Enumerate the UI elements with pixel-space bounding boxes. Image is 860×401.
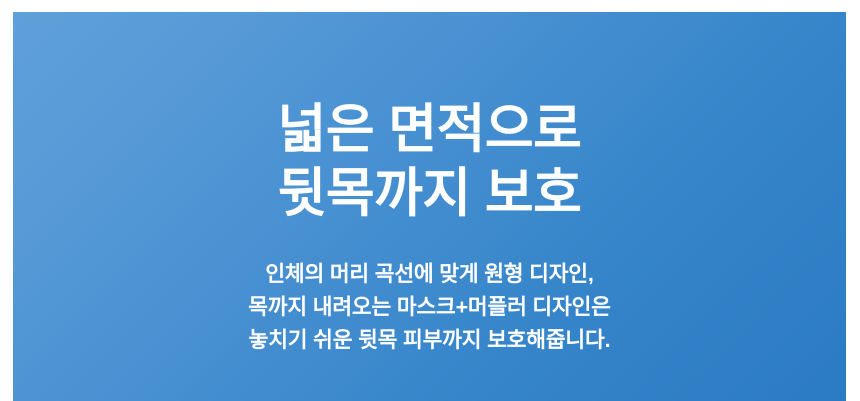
banner-content: 넓은 면적으로 뒷목까지 보호 인체의 머리 곡선에 맞게 원형 디자인, 목까… xyxy=(13,12,846,401)
headline-block: 넓은 면적으로 뒷목까지 보호 xyxy=(278,98,582,226)
banner-root: 넓은 면적으로 뒷목까지 보호 인체의 머리 곡선에 맞게 원형 디자인, 목까… xyxy=(0,0,860,401)
banner-gradient-panel: 넓은 면적으로 뒷목까지 보호 인체의 머리 곡선에 맞게 원형 디자인, 목까… xyxy=(13,12,846,401)
headline-line-1: 넓은 면적으로 xyxy=(278,98,582,162)
body-line-2: 목까지 내려오는 마스크+머플러 디자인은 xyxy=(248,291,611,324)
body-line-1: 인체의 머리 곡선에 맞게 원형 디자인, xyxy=(265,258,593,291)
body-copy-block: 인체의 머리 곡선에 맞게 원형 디자인, 목까지 내려오는 마스크+머플러 디… xyxy=(248,258,611,357)
headline-line-2: 뒷목까지 보호 xyxy=(278,162,582,226)
body-line-3: 놓치기 쉬운 뒷목 피부까지 보호해줍니다. xyxy=(249,324,611,357)
